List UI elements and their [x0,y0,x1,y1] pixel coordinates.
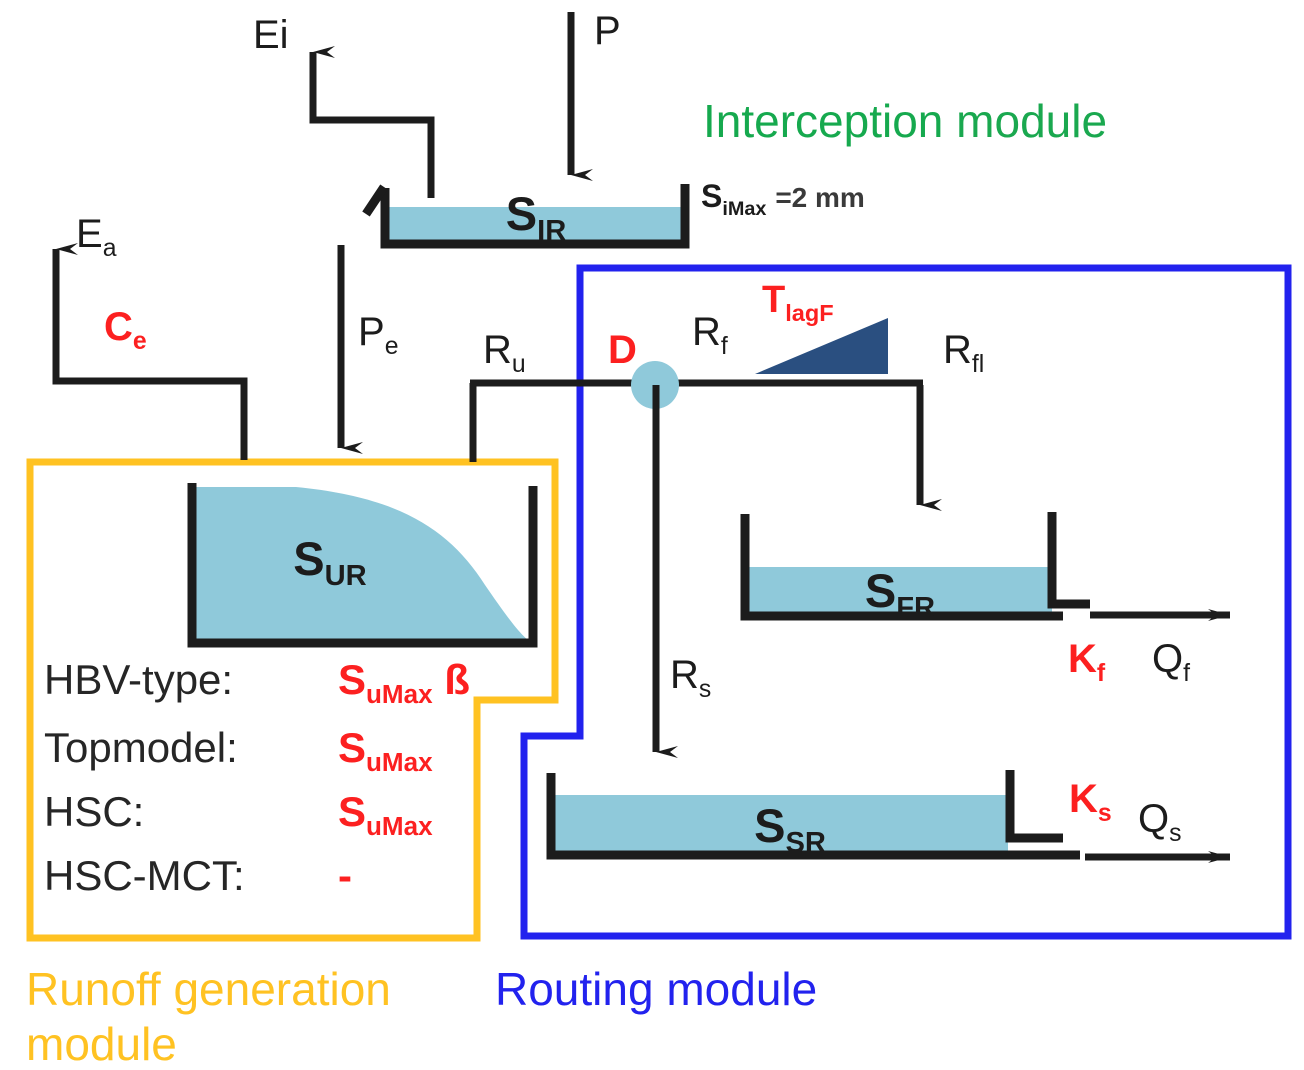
label-P: P [594,9,621,53]
label-SiMax: SiMax =2 mm [701,178,865,220]
label-SIR: SIR [506,187,566,247]
label-Kf: Kf [1068,637,1106,687]
label-Ru: Ru [483,328,526,378]
table-row-label-1: Topmodel: [44,724,238,771]
routing-module-caption: Routing module [495,963,817,1015]
label-Qs: Qs [1138,797,1182,847]
table-row-value-1: SuMax [338,724,433,777]
label-Rfl: Rfl [943,328,984,378]
label-Rs: Rs [670,653,711,703]
label-Ea: Ea [76,212,117,262]
table-row-value-0: SuMax ß [338,656,470,709]
hydrological-model-diagram: Ei P Interception module SiMax =2 mm Ea … [0,0,1304,1070]
actual-evaporation-arrow [56,249,244,460]
lag-time-triangle [755,318,888,374]
slow-reservoir-outlet-wall [1010,770,1063,838]
label-D: D [608,328,637,372]
label-Rf: Rf [692,310,728,360]
fast-reservoir-outlet-wall [1052,512,1090,604]
interception-evaporation-arrow [313,52,431,198]
table-row-value-2: SuMax [338,788,433,841]
interception-module-title: Interception module [703,95,1107,147]
label-Ks: Ks [1069,777,1112,827]
runoff-module-caption-line2: module [26,1018,177,1070]
label-Ce: Ce [104,305,147,355]
table-row-label-2: HSC: [44,788,144,835]
table-row-label-3: HSC-MCT: [44,852,245,899]
runoff-module-caption-line1: Runoff generation [26,963,391,1015]
label-Ei: Ei [253,13,289,57]
model-parameter-table: HBV-type: SuMax ß Topmodel: SuMax HSC: S… [44,656,470,899]
label-Pe: Pe [358,310,398,360]
label-Qf: Qf [1152,637,1190,687]
label-TlagF: TlagF [762,279,834,326]
table-row-value-3: - [338,852,352,899]
table-row-label-0: HBV-type: [44,656,233,703]
